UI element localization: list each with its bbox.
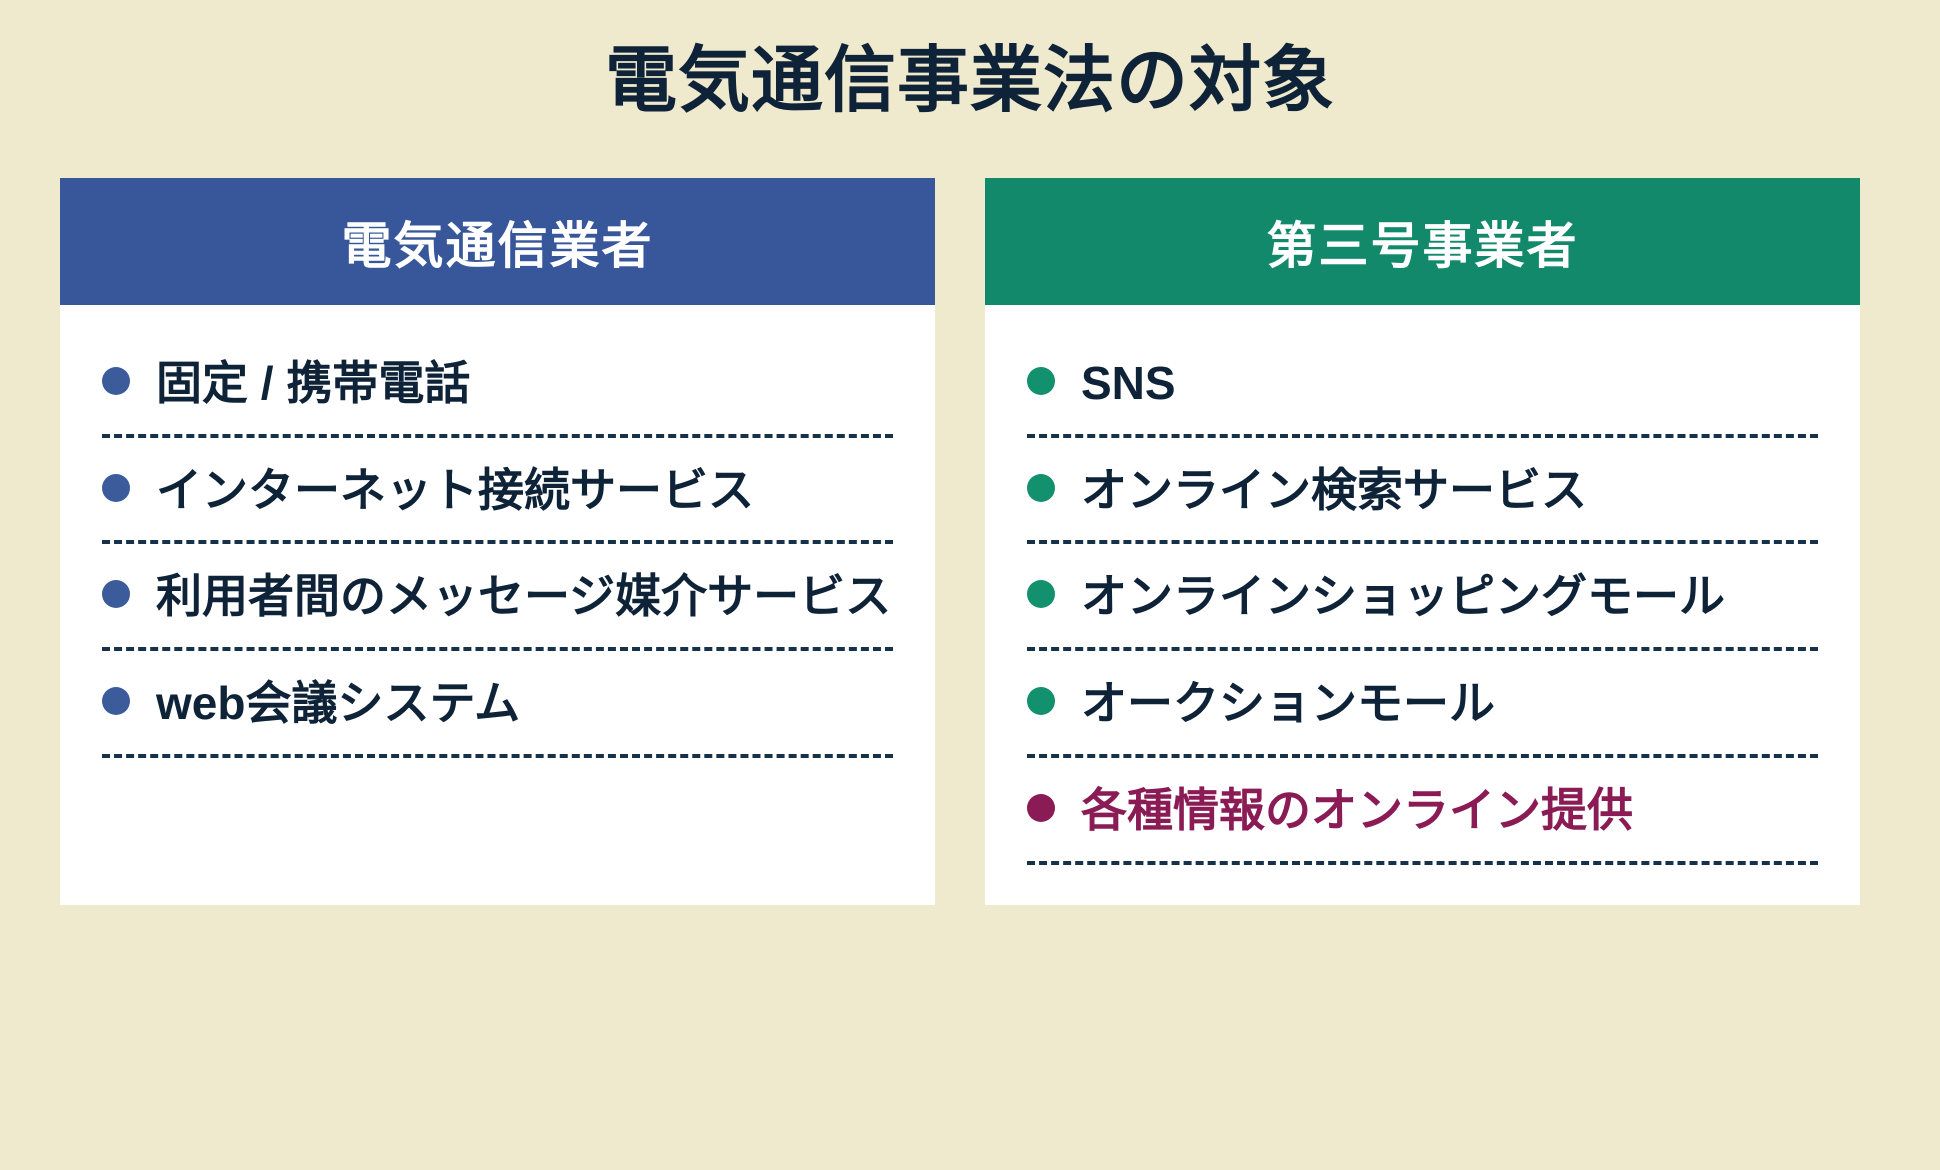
column-card-telecom-operators: 電気通信業者 固定 / 携帯電話 インターネット接続サービス 利用者間のメッセー… [60, 178, 935, 905]
list-item-label: SNS [1081, 353, 1176, 414]
column-body-telecom-operators: 固定 / 携帯電話 インターネット接続サービス 利用者間のメッセージ媒介サービス… [60, 305, 935, 905]
bullet-icon [1027, 580, 1055, 608]
column-card-category-three-operators: 第三号事業者 SNS オンライン検索サービス オンラインショッピングモール オー… [985, 178, 1860, 905]
bullet-icon [102, 580, 130, 608]
list-item[interactable]: 固定 / 携帯電話 [102, 331, 893, 438]
list-item-label: オンラインショッピングモール [1081, 566, 1725, 627]
column-header-telecom-operators: 電気通信業者 [60, 178, 935, 305]
list-item-label: 利用者間のメッセージ媒介サービス [156, 566, 891, 627]
list-item-label: オークションモール [1081, 673, 1495, 734]
bullet-icon [102, 474, 130, 502]
list-item[interactable]: インターネット接続サービス [102, 438, 893, 545]
list-item-label: 各種情報のオンライン提供 [1081, 780, 1633, 841]
infographic-page: 電気通信事業法の対象 電気通信業者 固定 / 携帯電話 インターネット接続サービ… [0, 0, 1940, 1170]
list-item-label: オンライン検索サービス [1081, 460, 1587, 521]
card-columns: 電気通信業者 固定 / 携帯電話 インターネット接続サービス 利用者間のメッセー… [60, 178, 1880, 905]
bullet-icon [102, 687, 130, 715]
bullet-icon [1027, 474, 1055, 502]
bullet-icon [102, 367, 130, 395]
list-item[interactable]: SNS [1027, 331, 1818, 438]
list-item[interactable]: 利用者間のメッセージ媒介サービス [102, 544, 893, 651]
bullet-icon [1027, 794, 1055, 822]
bullet-icon [1027, 367, 1055, 395]
column-body-category-three-operators: SNS オンライン検索サービス オンラインショッピングモール オークションモール [985, 305, 1860, 905]
list-item[interactable]: web会議システム [102, 651, 893, 758]
list-item[interactable]: 各種情報のオンライン提供 [1027, 758, 1818, 865]
page-title: 電気通信事業法の対象 [0, 42, 1940, 121]
list-item[interactable]: オークションモール [1027, 651, 1818, 758]
list-item[interactable]: オンラインショッピングモール [1027, 544, 1818, 651]
list-item-label: 固定 / 携帯電話 [156, 353, 470, 414]
list-item-label: web会議システム [156, 673, 520, 734]
column-header-category-three-operators: 第三号事業者 [985, 178, 1860, 305]
bullet-icon [1027, 687, 1055, 715]
list-item-label: インターネット接続サービス [156, 460, 754, 521]
list-item[interactable]: オンライン検索サービス [1027, 438, 1818, 545]
